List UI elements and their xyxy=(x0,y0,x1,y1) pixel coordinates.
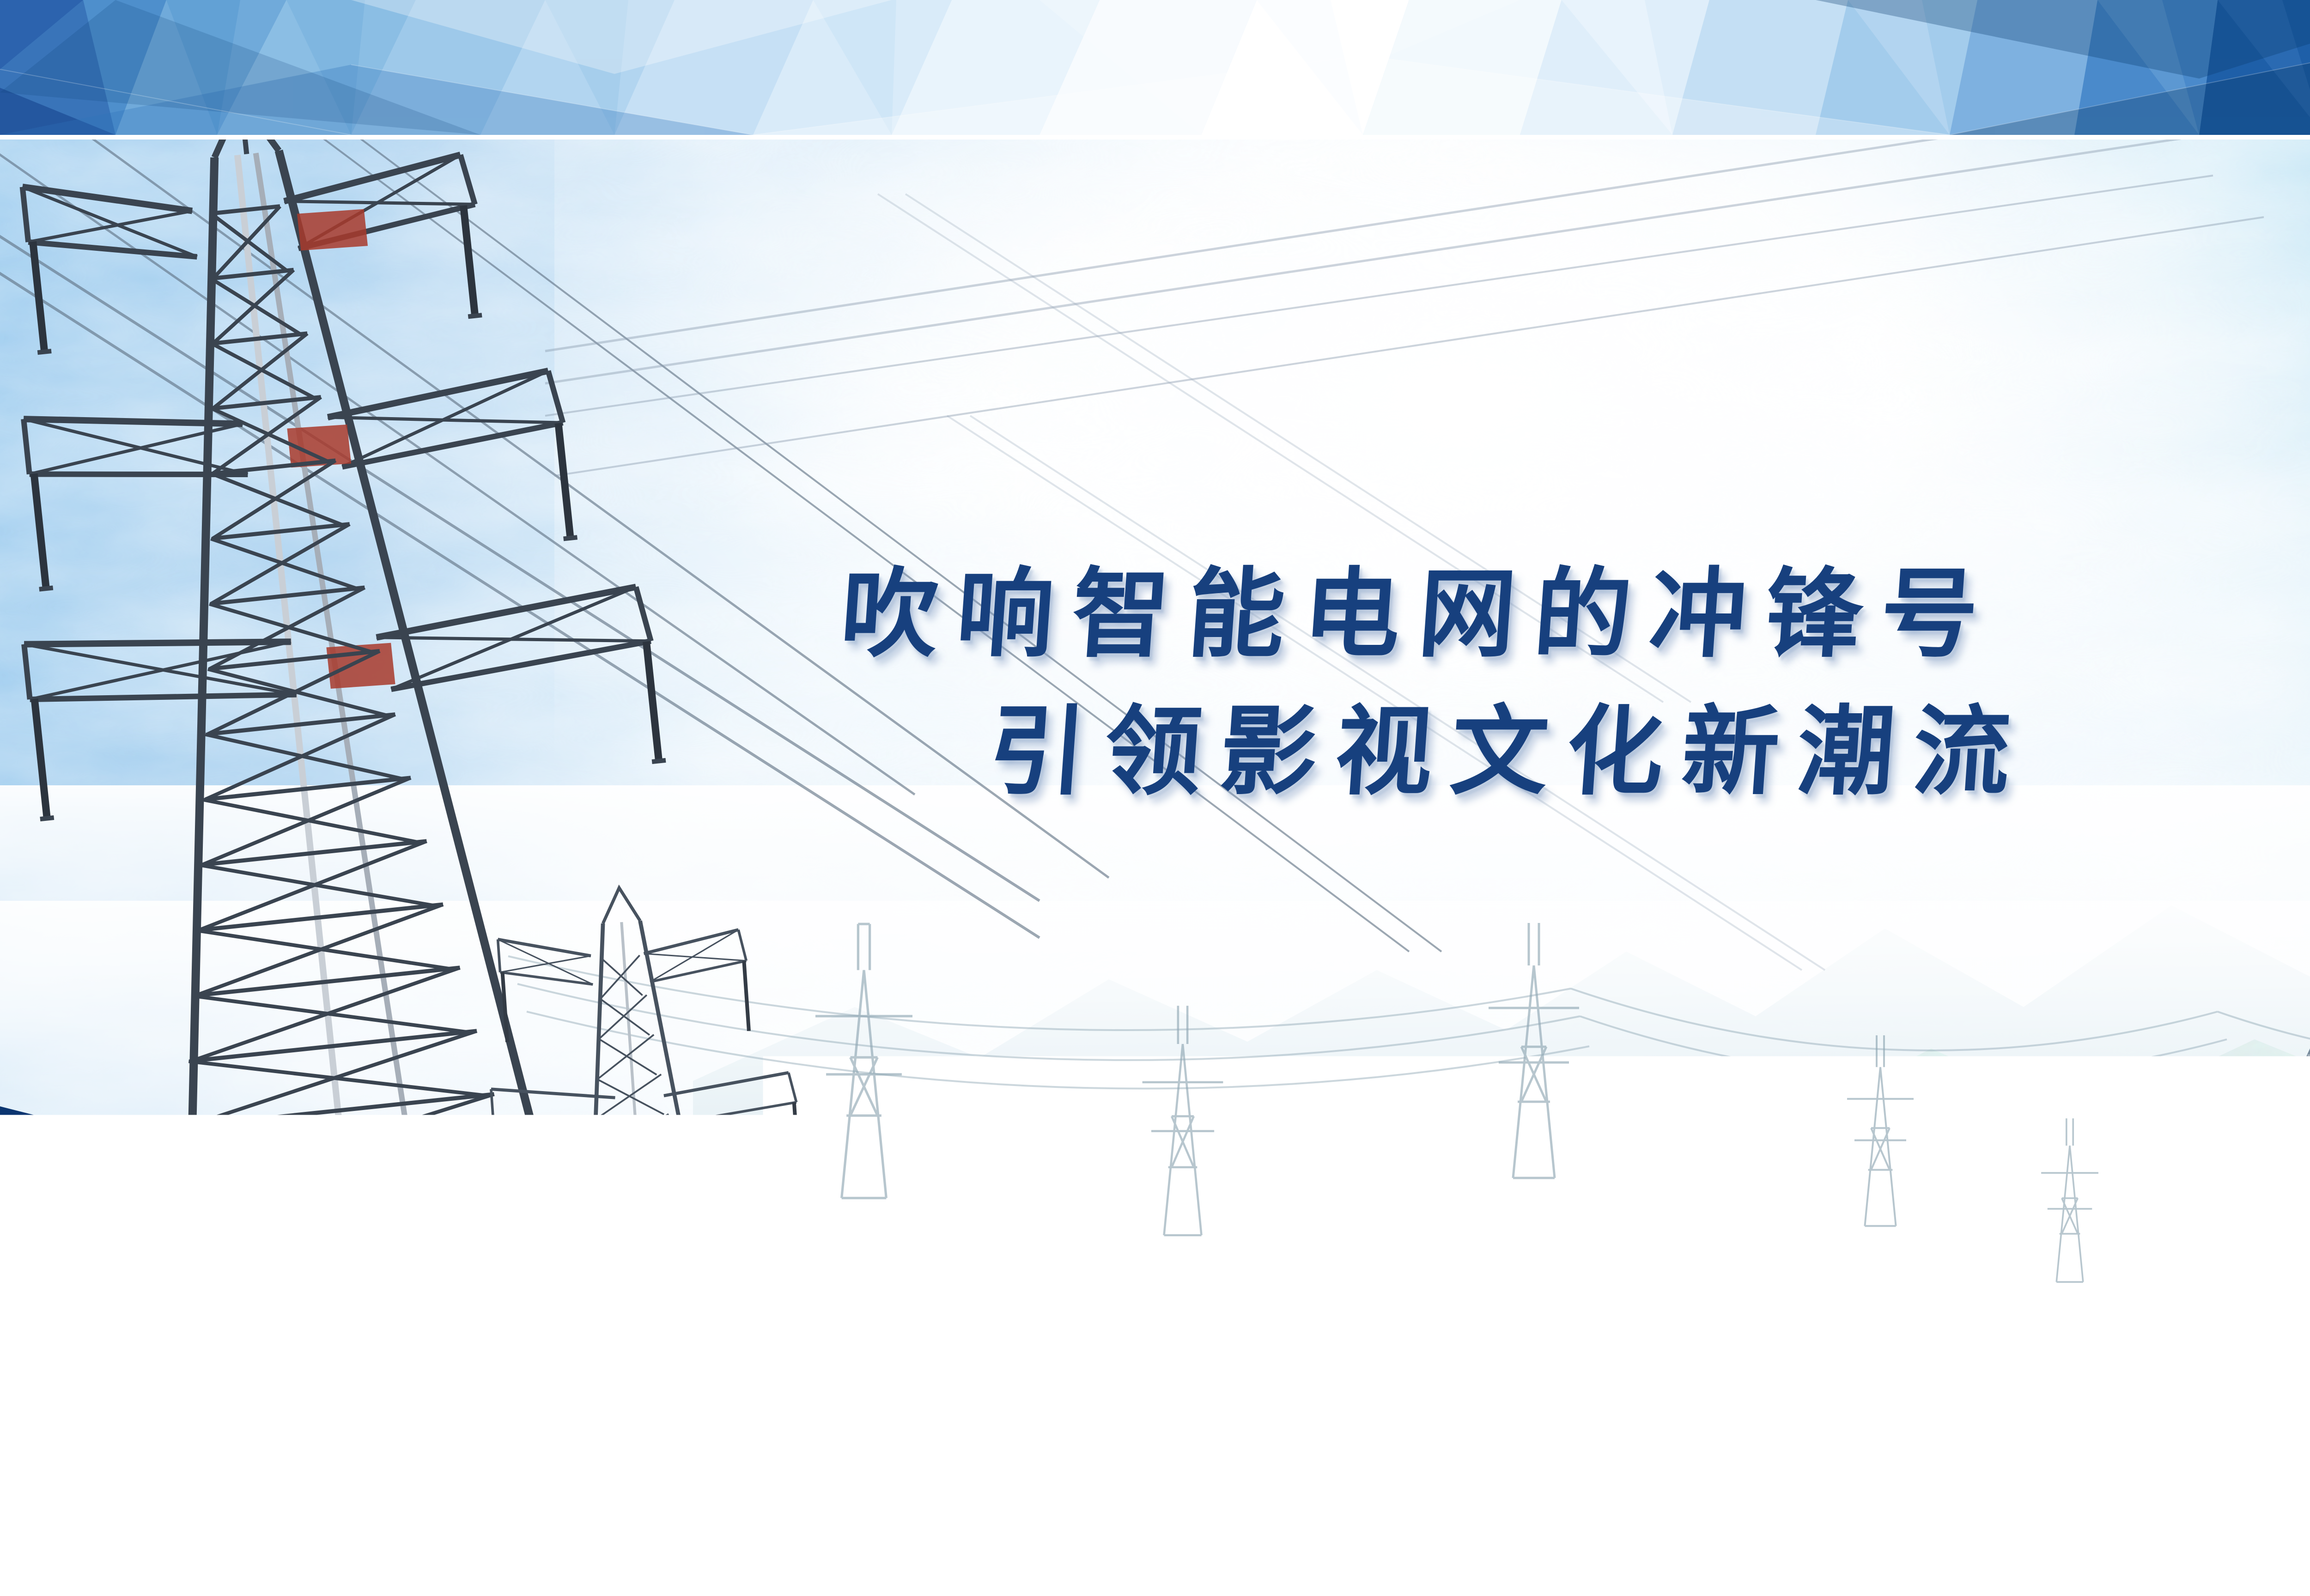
banner-root: 吹响智能电网的冲锋号 引领影视文化新潮流 xyxy=(0,0,2310,1596)
overlay-conductor-group xyxy=(0,1127,1146,1596)
wave-overlay-conductors xyxy=(0,0,2310,1596)
